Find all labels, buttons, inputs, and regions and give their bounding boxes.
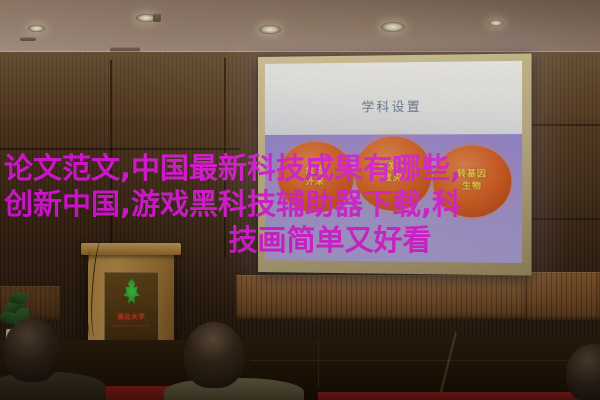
podium-plaque-subtext: Hubei University: [113, 324, 151, 328]
slide-surface: 学科设置 危险 外来 原发性 致灾 转基因 生物: [265, 61, 522, 263]
photo-scene: 学科设置 危险 外来 原发性 致灾 转基因 生物 湖北大学: [0, 0, 600, 400]
audience-head-left: [4, 318, 60, 382]
wall-seam: [110, 60, 112, 250]
floor-seam: [318, 342, 319, 388]
bubble-line-1: 危险: [306, 166, 325, 178]
downlight-icon: [259, 25, 281, 34]
audio-cable: [86, 250, 96, 336]
audience-head-right: [184, 322, 244, 388]
bubble-line-2: 生物: [462, 181, 482, 193]
wall-seam: [524, 124, 600, 126]
bubble-line-2: 致灾: [383, 174, 403, 186]
slide-title: 学科设置: [265, 95, 522, 116]
red-chair-back: [318, 392, 600, 400]
floor-seam: [250, 360, 580, 361]
wall-seam: [224, 58, 226, 258]
wall-panel: [236, 275, 526, 319]
podium-plaque: 湖北大学 Hubei University: [104, 272, 159, 348]
downlight-icon: [28, 25, 45, 32]
slide-bubble: 转基因 生物: [433, 145, 512, 217]
wall-panel: [526, 272, 600, 320]
ceiling: [0, 0, 600, 58]
slide-bubble: 原发性 致灾: [354, 136, 431, 210]
ceiling-vent: [153, 13, 161, 22]
projection-screen: 学科设置 危险 外来 原发性 致灾 转基因 生物: [258, 53, 532, 275]
downlight-icon: [489, 20, 503, 26]
wall-seam: [0, 148, 240, 150]
slide-bubble: 危险 外来: [277, 142, 353, 213]
bubble-line-2: 外来: [306, 177, 325, 189]
slide-body: 危险 外来 原发性 致灾 转基因 生物: [265, 134, 522, 263]
wall-seam: [524, 218, 600, 220]
podium-plaque-text: 湖北大学: [117, 312, 145, 321]
bubble-line-1: 转基因: [457, 170, 487, 182]
ceiling-vent: [20, 37, 36, 41]
downlight-icon: [381, 22, 405, 32]
bubble-line-1: 原发性: [378, 162, 407, 174]
university-crest-icon: [121, 278, 143, 306]
